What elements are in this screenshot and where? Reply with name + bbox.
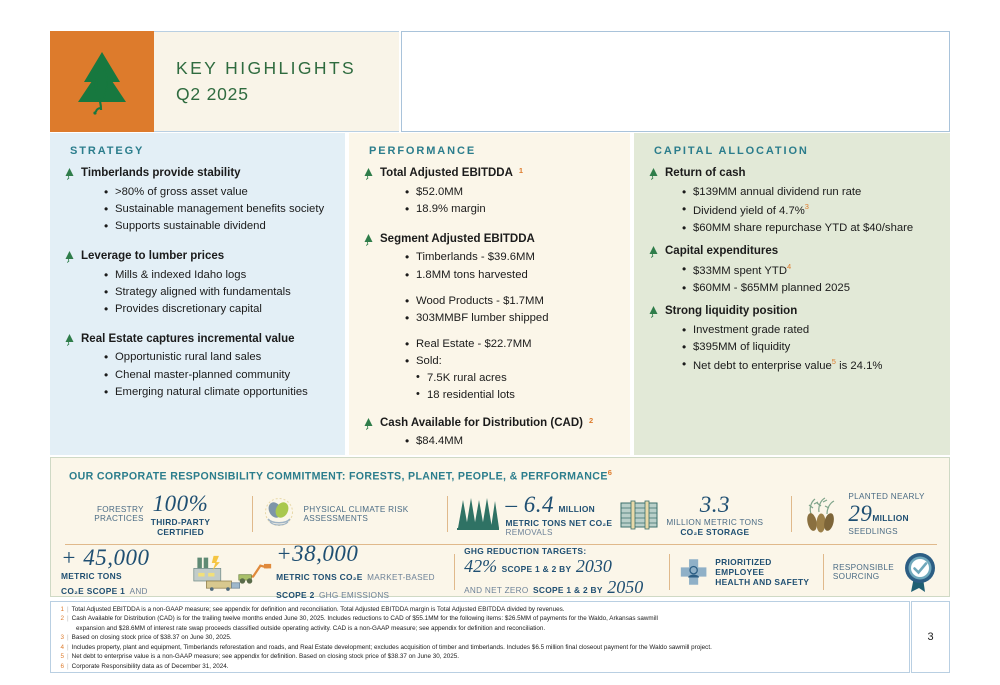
performance-group-3-label: Cash Available for Distribution (CAD) (380, 416, 583, 432)
list-item: $139MM annual dividend run rate (682, 184, 940, 201)
co2-removals-bold: METRIC TONS NET CO₂e (506, 518, 613, 528)
cr-band-title-text: OUR CORPORATE RESPONSIBILITY COMMITMENT:… (69, 471, 608, 483)
footnote-separator: | (67, 614, 69, 623)
list-item-text: $60MM share repurchase YTD at $40/share (693, 222, 913, 234)
performance-group-1: Total Adjusted EBITDDA1 $52.0MM 18.9% ma… (363, 166, 620, 218)
strategy-group-3: Real Estate captures incremental value O… (64, 332, 335, 401)
list-item-text: $395MM of liquidity (693, 341, 790, 353)
health-safety-line2: HEALTH AND SAFETY (715, 577, 814, 587)
ghg-year-2: 2050 (607, 577, 643, 597)
list-item-tail: is 24.1% (836, 360, 882, 372)
footnote-text: Corporate Responsibility data as of Dece… (72, 662, 905, 671)
performance-group-1-label: Total Adjusted EBITDDA (380, 166, 513, 182)
pine-tree-logo-icon (74, 48, 130, 116)
footnote-separator: | (67, 643, 69, 652)
slide-title-block: KEY HIGHLIGHTS Q2 2025 (154, 31, 399, 132)
scope2-reg: MARKET-BASED (367, 573, 435, 582)
list-item: 1.8MM tons harvested (405, 267, 620, 284)
scope2-reg-2: GHG EMISSIONS (319, 591, 389, 600)
footnote-separator: | (67, 605, 69, 614)
strategy-group-1: Timberlands provide stability >80% of gr… (64, 166, 335, 235)
footnote-separator: | (67, 652, 69, 661)
performance-group-3-title: Cash Available for Distribution (CAD)2 (363, 416, 620, 432)
scope1-stat: + 45,000 (61, 545, 150, 571)
footnote-ref-4: 4 (787, 262, 791, 271)
list-item: Real Estate - $22.7MM (405, 336, 620, 353)
corporate-responsibility-band: OUR CORPORATE RESPONSIBILITY COMMITMENT:… (50, 457, 950, 597)
footnote-number: 5 (55, 652, 64, 661)
performance-group-2: Segment Adjusted EBITDDA Timberlands - $… (363, 232, 620, 405)
list-item: Timberlands - $39.6MM (405, 249, 620, 266)
column-heading-performance: PERFORMANCE (369, 145, 620, 157)
tree-bullet-icon (363, 167, 374, 180)
footnote-number: 2 (55, 614, 64, 623)
list-item: Dividend yield of 4.7%3 (682, 201, 940, 220)
footnote-ref-2: 2 (589, 416, 593, 426)
co2-removals-unit: MILLION (558, 504, 595, 514)
slide-title-line1: KEY HIGHLIGHTS (176, 56, 399, 81)
footnote-ref-3: 3 (805, 202, 809, 211)
footnote-ref-6: 6 (608, 468, 613, 477)
list-item: Sold: (405, 353, 620, 370)
scope1-bold-1: METRIC TONS (61, 571, 150, 581)
seedlings-unit: MILLION (872, 513, 909, 523)
list-item-sub: 18 residential lots (405, 387, 620, 404)
footnote-number: 3 (55, 633, 64, 642)
slide-header: KEY HIGHLIGHTS Q2 2025 (50, 31, 950, 132)
list-item-text: $60MM - $65MM planned 2025 (693, 282, 850, 294)
header-blank-panel (401, 31, 950, 132)
scope1-tail: AND (130, 587, 148, 596)
strategy-group-2: Leverage to lumber prices Mills & indexe… (64, 249, 335, 318)
cr-item-health-safety: PRIORITIZED EMPLOYEE HEALTH AND SAFETY (679, 556, 814, 588)
health-safety-line1: PRIORITIZED EMPLOYEE (715, 557, 814, 577)
performance-group-1-bullets: $52.0MM 18.9% margin (363, 184, 620, 218)
cr-divider (252, 496, 253, 532)
list-item-sub: 7.5K rural acres (405, 370, 620, 387)
cr-divider (823, 554, 824, 590)
forestry-label-1: FORESTRY (94, 505, 144, 514)
harvester-icon (237, 557, 277, 587)
forestry-stat: 100% (151, 491, 210, 517)
wood-bundle-icon (619, 497, 659, 531)
list-item: Provides discretionary capital (104, 301, 335, 318)
seedlings-line2: SEEDLINGS (848, 527, 924, 536)
scope2-bold-2: SCOPE 2 (276, 590, 314, 600)
tree-bullet-icon (648, 167, 659, 180)
footnote-separator: | (67, 662, 69, 671)
award-ribbon-icon (901, 551, 941, 593)
list-item-text: $33MM spent YTD (693, 265, 787, 277)
performance-group-2-bullets: Timberlands - $39.6MM 1.8MM tons harvest… (363, 249, 620, 404)
strategy-group-1-label: Timberlands provide stability (81, 166, 241, 182)
tree-bullet-icon (363, 417, 374, 430)
cr-item-co2-storage: 3.3 MILLION METRIC TONS CO₂e STORAGE (619, 492, 782, 537)
footnote-text: Includes property, plant and equipment, … (72, 643, 905, 652)
forest-trees-icon (457, 496, 499, 532)
co2-storage-line1: MILLION METRIC TONS (666, 518, 763, 527)
list-item: Supports sustainable dividend (104, 218, 335, 235)
co2-storage-stat: 3.3 (666, 492, 763, 518)
medical-cross-icon (679, 556, 708, 588)
footnote-continuation: expansion and $28.6MM of interest rate s… (55, 624, 905, 633)
ghg-year-1: 2030 (576, 556, 612, 576)
strategy-group-2-bullets: Mills & indexed Idaho logs Strategy alig… (64, 267, 335, 318)
forestry-label-2: PRACTICES (94, 514, 144, 523)
footnote-text: Cash Available for Distribution (CAD) is… (72, 614, 905, 623)
strategy-group-3-bullets: Opportunistic rural land sales Chenal ma… (64, 349, 335, 400)
company-logo (50, 31, 154, 132)
seedlings-stat: 29 (848, 501, 872, 526)
slide-root: KEY HIGHLIGHTS Q2 2025 STRATEGY Timberla… (0, 0, 1000, 685)
cr-item-climate-risk: PHYSICAL CLIMATE RISK ASSESSMENTS (262, 497, 437, 531)
list-item: Mills & indexed Idaho logs (104, 267, 335, 284)
list-spacer (405, 284, 620, 293)
performance-group-3-bullets: $84.4MM (363, 433, 620, 450)
tree-bullet-icon (648, 305, 659, 318)
ghg-targets-header: GHG REDUCTION TARGETS: (464, 546, 643, 556)
list-item: Strategy aligned with fundamentals (104, 284, 335, 301)
page-number: 3 (911, 601, 950, 673)
capital-group-2: Capital expenditures $33MM spent YTD4 $6… (648, 244, 940, 298)
list-item: Chenal master-planned community (104, 367, 335, 384)
seedlings-line1: PLANTED NEARLY (848, 492, 924, 501)
ghg-l2a: AND NET ZERO (464, 586, 528, 595)
climate-risk-line2: ASSESSMENTS (303, 514, 408, 523)
footnote-row: 3|Based on closing stock price of $38.37… (55, 633, 905, 642)
list-item-text: Dividend yield of 4.7% (693, 204, 805, 216)
cr-divider (447, 496, 448, 532)
list-item: Wood Products - $1.7MM (405, 293, 620, 310)
cr-band-divider (65, 544, 937, 545)
capital-group-1-title: Return of cash (648, 166, 940, 182)
footnote-row: 5|Net debt to enterprise value is a non-… (55, 652, 905, 661)
seedlings-icon (801, 494, 841, 534)
responsible-sourcing-line1: RESPONSIBLE (833, 563, 894, 572)
footnote-row: 6|Corporate Responsibility data as of De… (55, 662, 905, 671)
cr-item-scope1: + 45,000 METRIC TONS CO₂e SCOPE 1 AND (61, 545, 192, 599)
list-item-text: Investment grade rated (693, 324, 809, 336)
strategy-group-1-title: Timberlands provide stability (64, 166, 335, 182)
cr-item-forestry: FORESTRY PRACTICES 100% THIRD-PARTY CERT… (61, 491, 243, 537)
tree-bullet-icon (64, 250, 75, 263)
list-item: Opportunistic rural land sales (104, 349, 335, 366)
footnote-row: 1|Total Adjusted EBITDDA is a non-GAAP m… (55, 605, 905, 614)
cr-item-ghg-targets: GHG REDUCTION TARGETS: 42% SCOPE 1 & 2 B… (464, 546, 660, 598)
performance-group-2-title: Segment Adjusted EBITDDA (363, 232, 620, 248)
column-capital-allocation: CAPITAL ALLOCATION Return of cash $139MM… (634, 133, 950, 455)
tree-bullet-icon (363, 233, 374, 246)
footnote-text: Net debt to enterprise value is a non-GA… (72, 652, 905, 661)
list-item: $33MM spent YTD4 (682, 261, 940, 280)
list-item: $60MM share repurchase YTD at $40/share (682, 220, 940, 237)
footnote-ref-1: 1 (519, 166, 523, 176)
list-item-text: $139MM annual dividend run rate (693, 186, 861, 198)
list-item: >80% of gross asset value (104, 184, 335, 201)
cr-divider (454, 554, 455, 590)
forestry-bold-2: CERTIFIED (151, 527, 210, 537)
list-item: $60MM - $65MM planned 2025 (682, 280, 940, 297)
factory-icon (192, 552, 242, 592)
capital-group-1-label: Return of cash (665, 166, 746, 182)
slide-title-line2: Q2 2025 (176, 82, 399, 107)
capital-group-2-bullets: $33MM spent YTD4 $60MM - $65MM planned 2… (648, 261, 940, 297)
strategy-group-1-bullets: >80% of gross asset value Sustainable ma… (64, 184, 335, 235)
capital-group-1-bullets: $139MM annual dividend run rate Dividend… (648, 184, 940, 237)
list-item: $52.0MM (405, 184, 620, 201)
cr-divider (791, 496, 792, 532)
list-item: 18.9% margin (405, 201, 620, 218)
tree-bullet-icon (64, 167, 75, 180)
scope2-stat: +38,000 (276, 541, 435, 567)
scope2-bold: METRIC TONS CO₂e (276, 572, 363, 582)
co2-removals-reg: REMOVALS (506, 528, 613, 537)
hand-leaf-icon (262, 497, 296, 531)
list-item: Sustainable management benefits society (104, 201, 335, 218)
co2-storage-line2: CO₂e STORAGE (666, 527, 763, 537)
performance-group-2-label: Segment Adjusted EBITDDA (380, 232, 535, 248)
list-item: 303MMBF lumber shipped (405, 310, 620, 327)
list-item: $84.4MM (405, 433, 620, 450)
list-item: $395MM of liquidity (682, 339, 940, 356)
cr-row-1: FORESTRY PRACTICES 100% THIRD-PARTY CERT… (61, 488, 941, 540)
footnote-text: Based on closing stock price of $38.37 o… (72, 633, 905, 642)
ghg-l2b: SCOPE 1 & 2 BY (533, 585, 603, 595)
column-strategy: STRATEGY Timberlands provide stability >… (50, 133, 347, 455)
footnote-row: 4|Includes property, plant and equipment… (55, 643, 905, 652)
ghg-pct: 42% (464, 556, 497, 576)
climate-risk-line1: PHYSICAL CLIMATE RISK (303, 505, 408, 514)
footnote-number: 4 (55, 643, 64, 652)
capital-group-3-title: Strong liquidity position (648, 304, 940, 320)
cr-band-title: OUR CORPORATE RESPONSIBILITY COMMITMENT:… (69, 468, 949, 483)
list-item: Net debt to enterprise value5 is 24.1% (682, 356, 940, 375)
strategy-group-3-label: Real Estate captures incremental value (81, 332, 295, 348)
cr-item-responsible-sourcing: RESPONSIBLE SOURCING (833, 551, 941, 593)
three-column-body: STRATEGY Timberlands provide stability >… (50, 133, 950, 455)
tree-bullet-icon (64, 333, 75, 346)
list-item-text: Net debt to enterprise value (693, 360, 832, 372)
performance-group-1-title: Total Adjusted EBITDDA1 (363, 166, 620, 182)
cr-item-scope2: +38,000 METRIC TONS CO₂e MARKET-BASED SC… (276, 541, 445, 603)
capital-group-3-bullets: Investment grade rated $395MM of liquidi… (648, 322, 940, 375)
list-item: Emerging natural climate opportunities (104, 384, 335, 401)
tree-bullet-icon (648, 245, 659, 258)
strategy-group-2-label: Leverage to lumber prices (81, 249, 224, 265)
co2-removals-stat: – 6.4 (506, 492, 555, 517)
cr-item-co2-removals: – 6.4 MILLION METRIC TONS NET CO₂e REMOV… (457, 492, 620, 537)
performance-group-3: Cash Available for Distribution (CAD)2 $… (363, 416, 620, 451)
column-heading-strategy: STRATEGY (70, 145, 335, 157)
list-spacer (405, 327, 620, 336)
ghg-l1a: SCOPE 1 & 2 BY (502, 564, 572, 574)
footnotes-block: 1|Total Adjusted EBITDDA is a non-GAAP m… (50, 601, 910, 673)
list-item: Investment grade rated (682, 322, 940, 339)
footnote-row: 2|Cash Available for Distribution (CAD) … (55, 614, 905, 623)
capital-group-1: Return of cash $139MM annual dividend ru… (648, 166, 940, 237)
cr-divider (669, 554, 670, 590)
footnote-number: 1 (55, 605, 64, 614)
capital-group-2-label: Capital expenditures (665, 244, 778, 260)
footnote-separator: | (67, 633, 69, 642)
forestry-bold-1: THIRD-PARTY (151, 517, 210, 527)
scope1-bold-2: CO₂e SCOPE 1 (61, 586, 125, 596)
footnote-number: 6 (55, 662, 64, 671)
capital-group-3-label: Strong liquidity position (665, 304, 797, 320)
capital-group-3: Strong liquidity position Investment gra… (648, 304, 940, 375)
strategy-group-2-title: Leverage to lumber prices (64, 249, 335, 265)
cr-item-seedlings: PLANTED NEARLY 29MILLION SEEDLINGS (801, 492, 941, 536)
cr-row-2: + 45,000 METRIC TONS CO₂e SCOPE 1 AND (61, 550, 941, 594)
responsible-sourcing-line2: SOURCING (833, 572, 894, 581)
footnote-text: Total Adjusted EBITDDA is a non-GAAP mea… (72, 605, 905, 614)
column-heading-capital: CAPITAL ALLOCATION (654, 145, 940, 157)
strategy-group-3-title: Real Estate captures incremental value (64, 332, 335, 348)
column-performance: PERFORMANCE Total Adjusted EBITDDA1 $52.… (349, 133, 632, 455)
capital-group-2-title: Capital expenditures (648, 244, 940, 260)
